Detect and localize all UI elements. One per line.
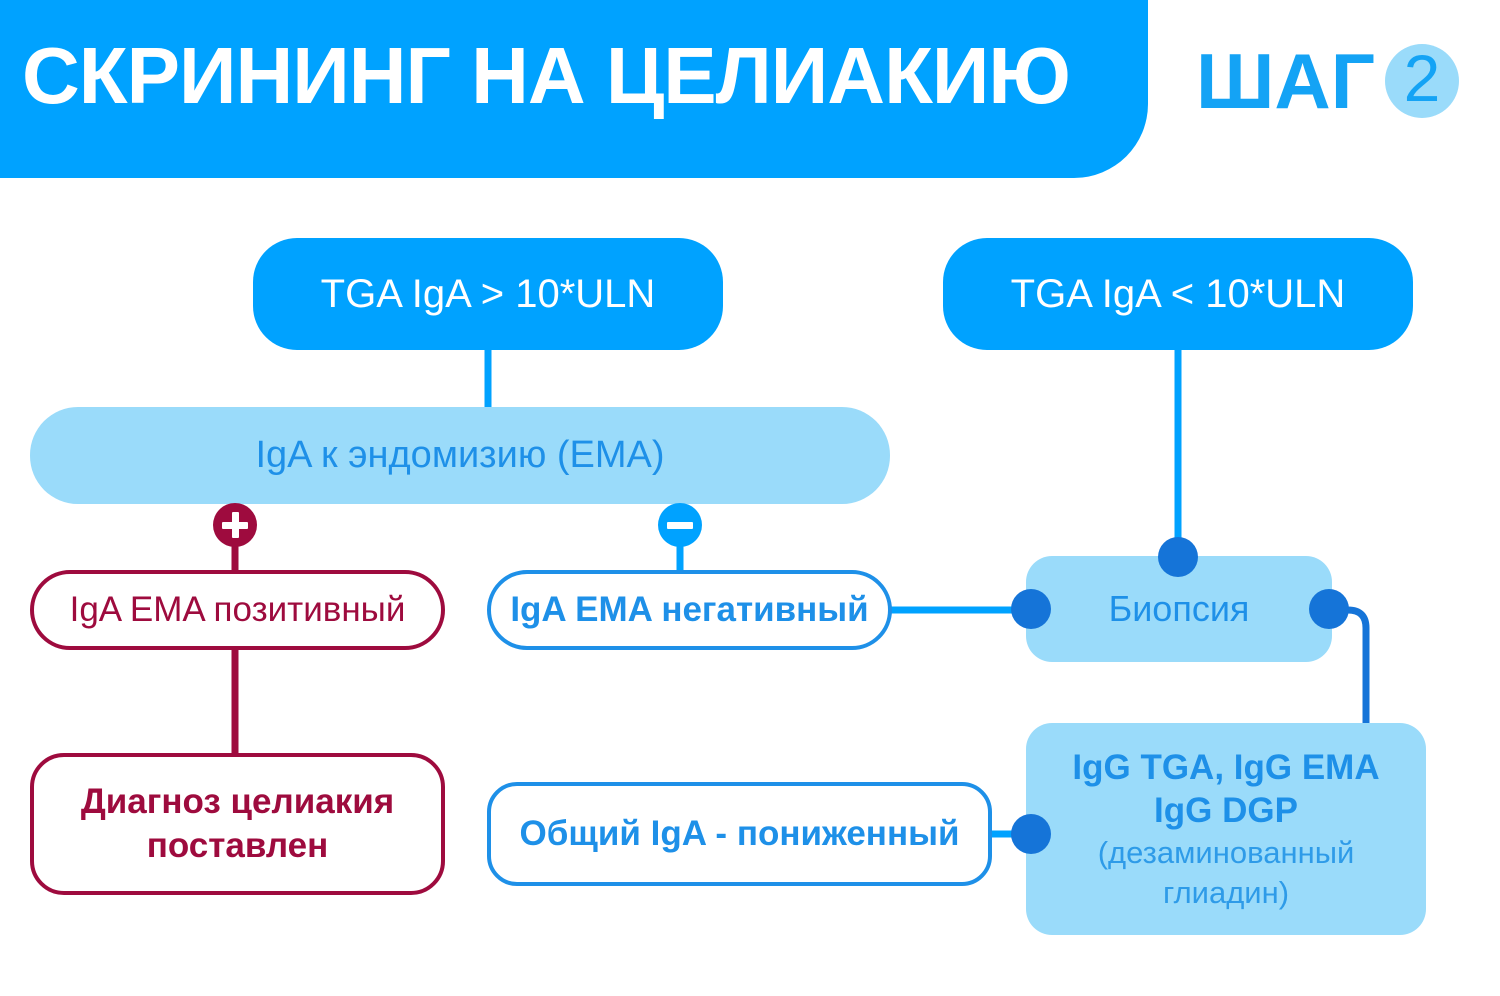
minus-horizontal-bar [667,522,693,529]
dot-biopsy-right [1309,589,1349,629]
connector-dots [0,0,1500,996]
plus-vertical-bar [232,512,239,538]
dot-biopsy-left [1011,589,1051,629]
plus-icon [213,503,257,547]
diagram-canvas: СКРИНИНГ НА ЦЕЛИАКИЮ ШАГ 2 TGA IgA > 10*… [0,0,1500,996]
minus-icon [658,503,702,547]
dot-igg-left [1011,814,1051,854]
dot-biopsy-top [1158,537,1198,577]
